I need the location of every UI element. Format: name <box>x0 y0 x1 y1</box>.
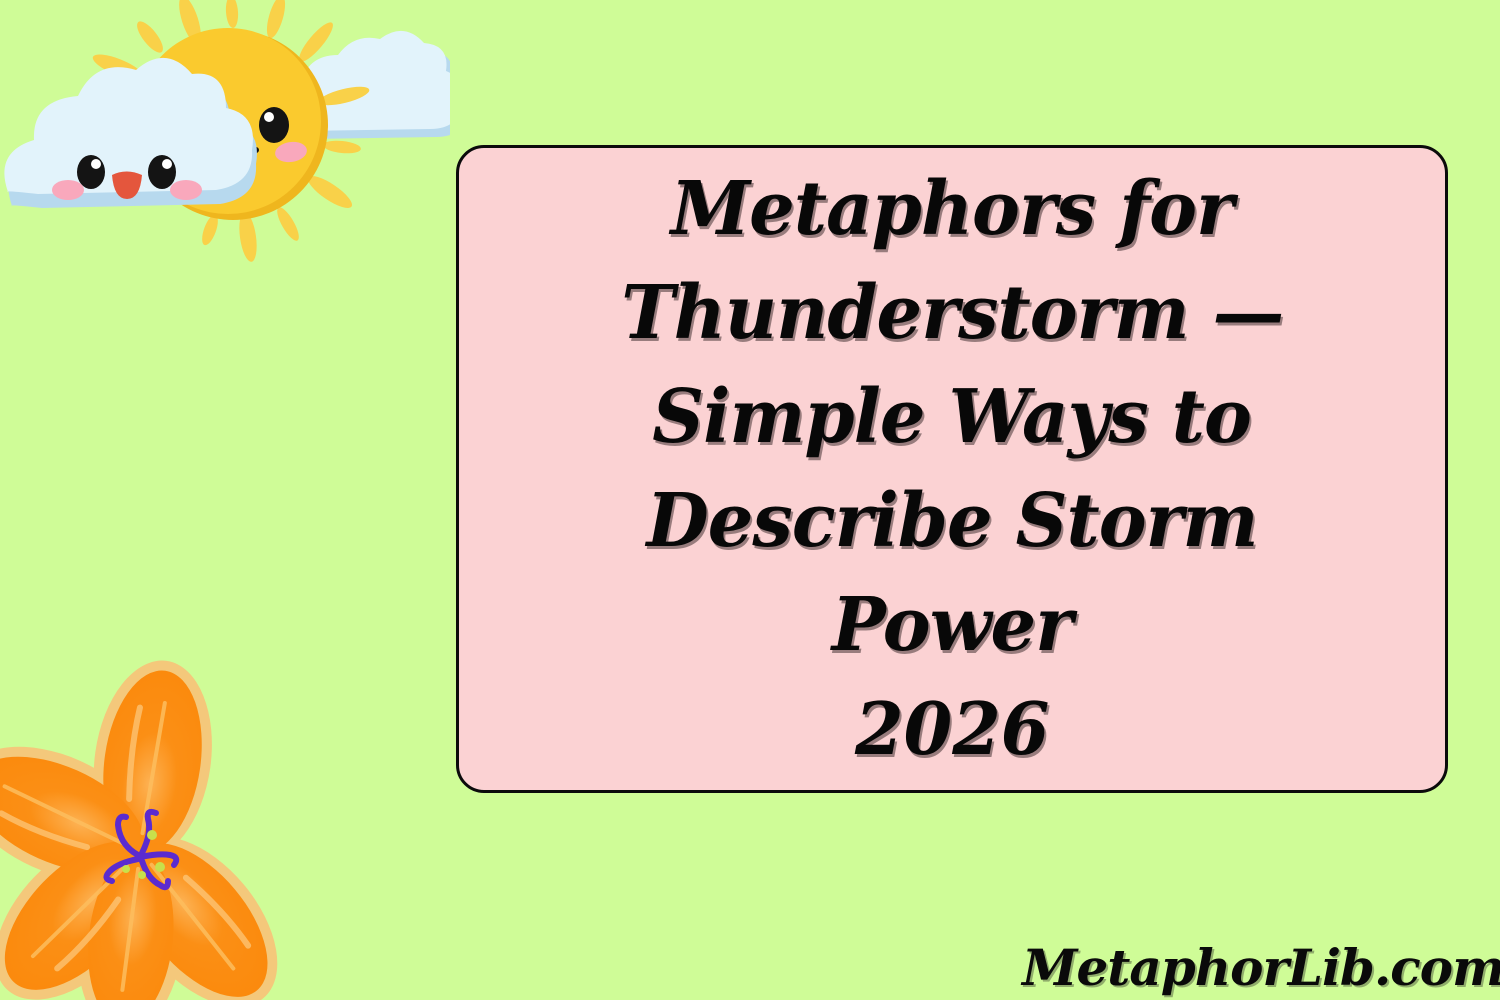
orange-flower-illustration <box>0 655 338 1000</box>
title-line-1: Metaphors for <box>671 157 1233 261</box>
title-line-3: Simple Ways to <box>653 365 1252 469</box>
title-card: Metaphors for Thunderstorm — Simple Ways… <box>456 145 1448 793</box>
title-line-5: Power <box>832 573 1072 677</box>
poster-canvas: Metaphors for Thunderstorm — Simple Ways… <box>0 0 1500 1000</box>
cloud-left-eye-icon <box>77 155 105 189</box>
site-watermark: MetaphorLib.com <box>1022 940 1500 996</box>
flower-petals <box>0 655 308 1000</box>
sun-right-eye-icon <box>259 107 289 143</box>
sun-with-clouds-illustration <box>0 0 450 292</box>
title-year: 2026 <box>855 677 1049 781</box>
title-line-2: Thunderstorm — <box>621 261 1283 365</box>
cloud-right-eye-icon <box>148 155 176 189</box>
cloud-left-cheek-icon <box>52 180 84 200</box>
cloud-right-cheek-icon <box>170 180 202 200</box>
title-line-4: Describe Storm <box>646 469 1257 573</box>
